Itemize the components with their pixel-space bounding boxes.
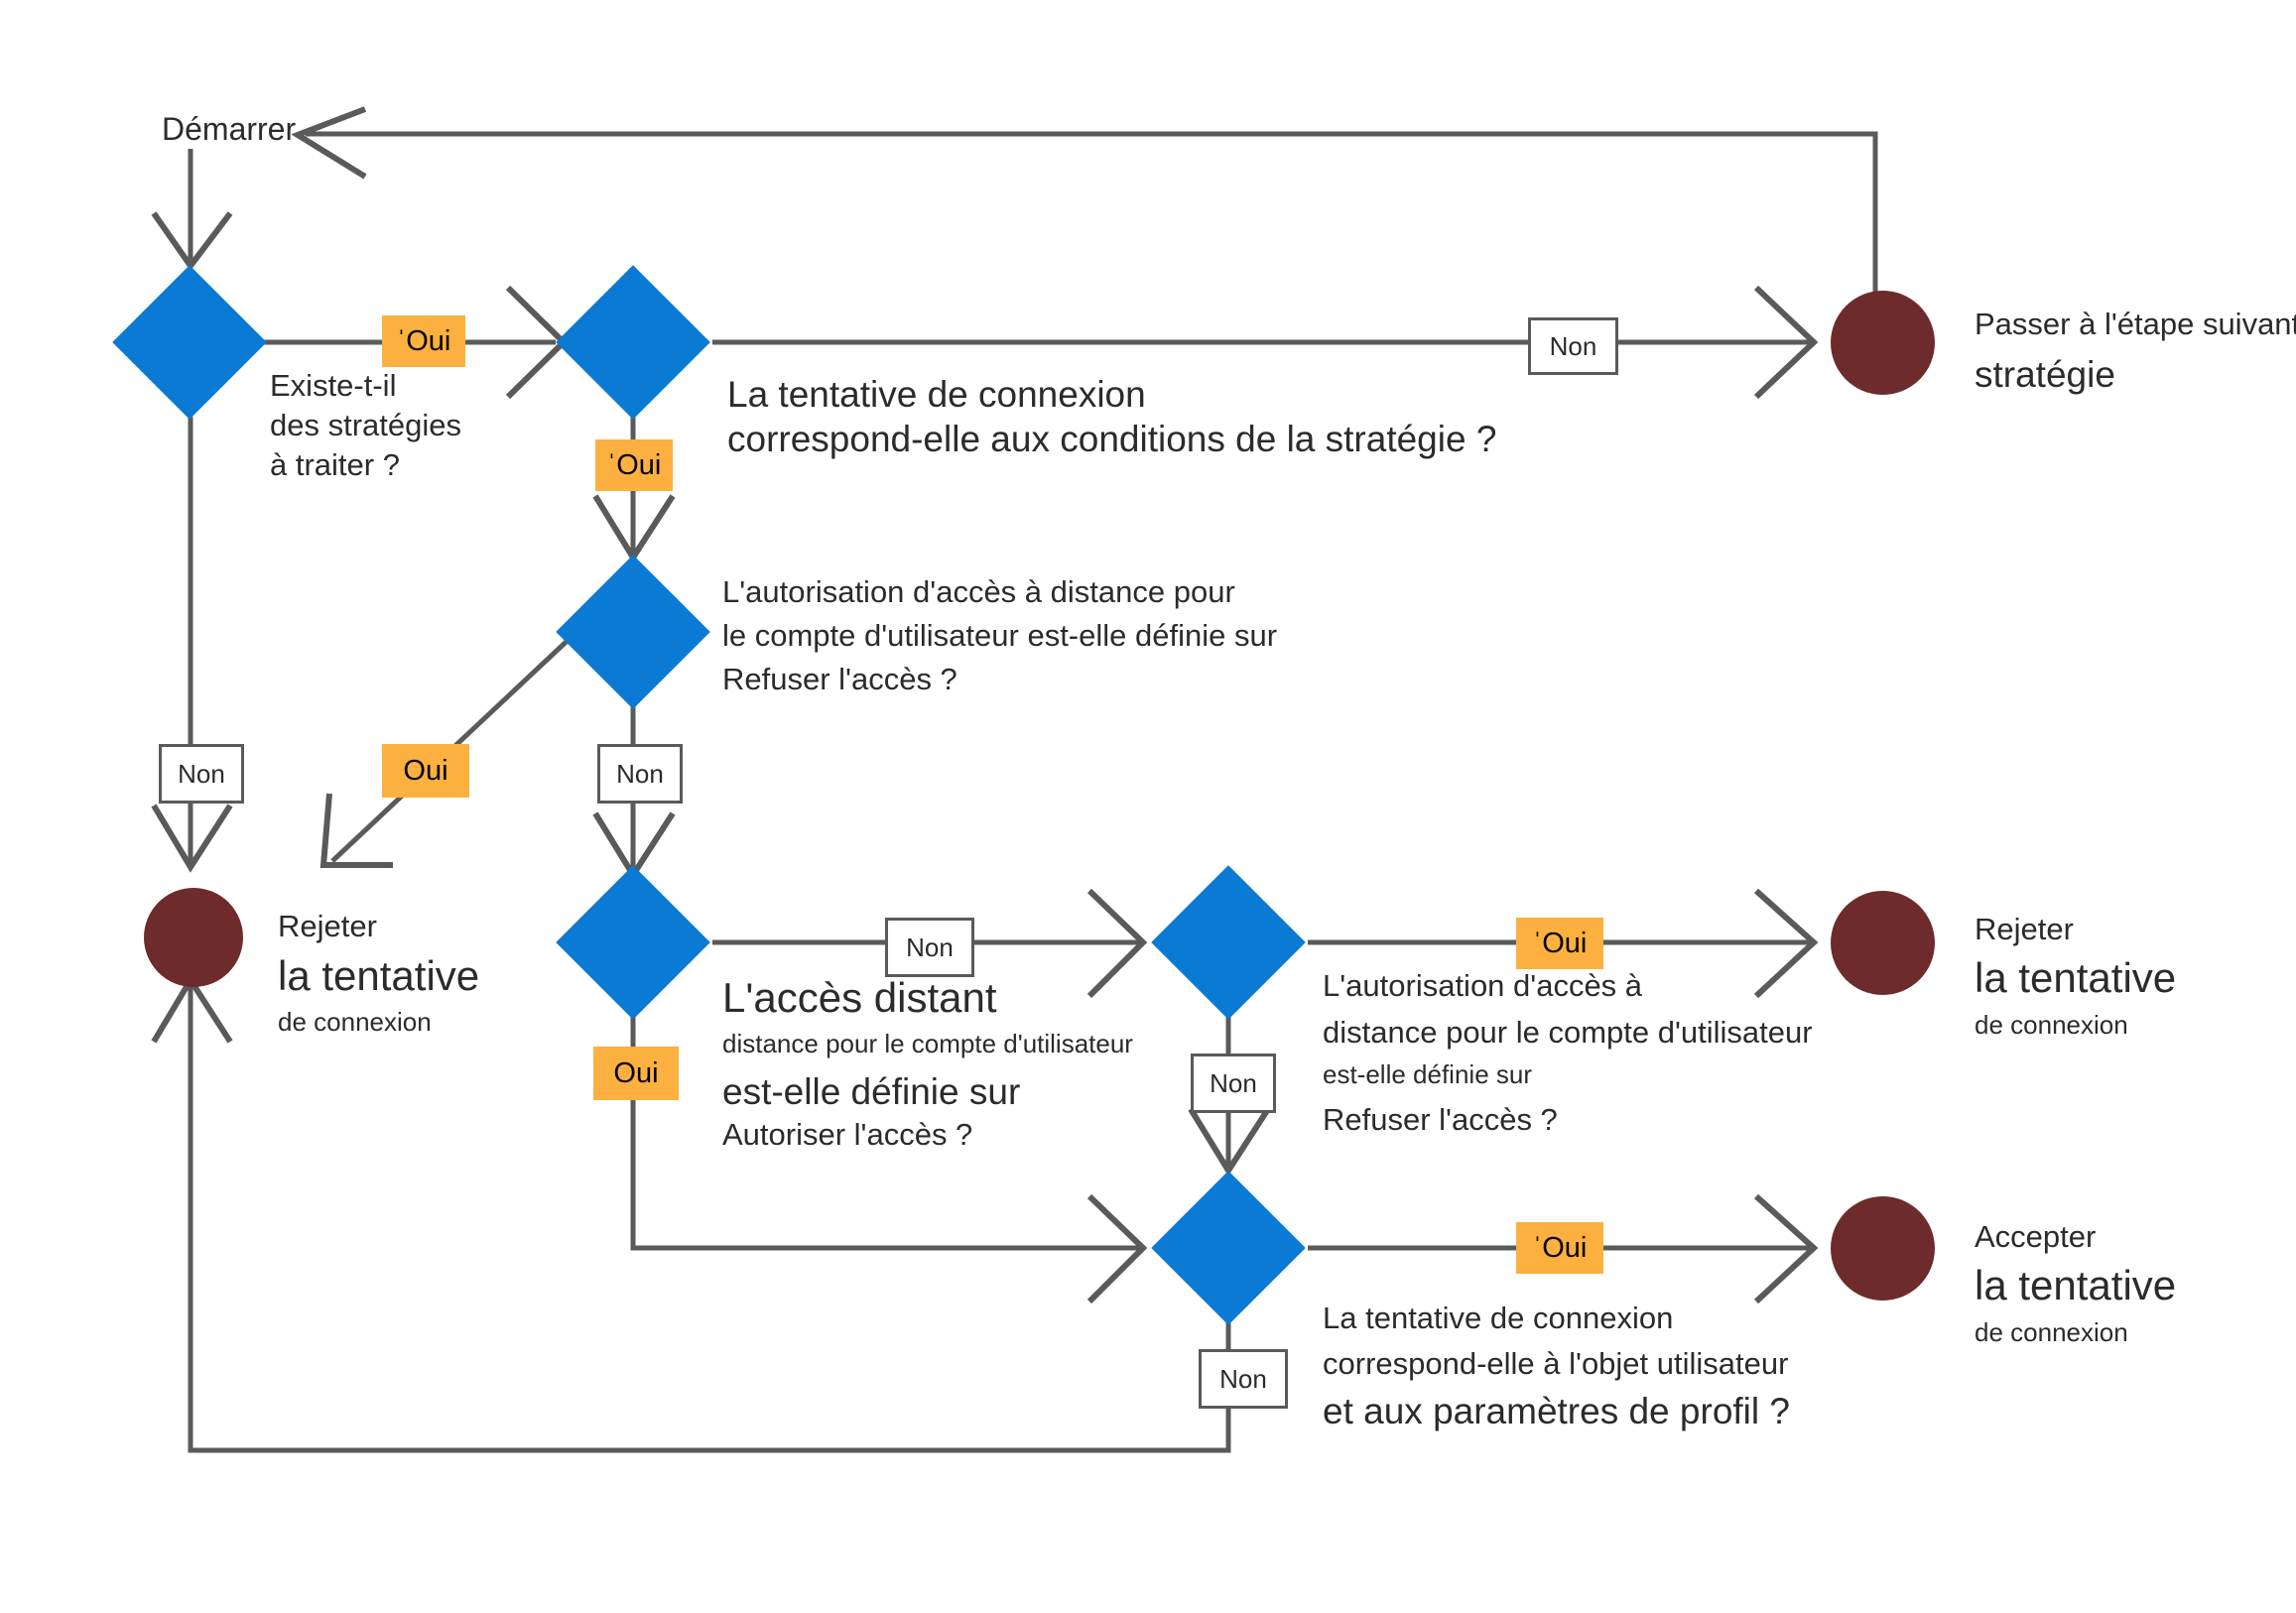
decision-label-deny-profile-l1: L'autorisation d'accès à — [1323, 967, 1642, 1005]
terminal-label-reject-right-l3: de connexion — [1975, 1010, 2128, 1042]
decision-label-allow-user-l1: L'accès distant — [722, 972, 997, 1023]
terminal-label-accept-right-l2: la tentative — [1975, 1260, 2176, 1310]
edge-label-yes-d1[interactable]: ˈOui — [382, 315, 465, 367]
edge-label-yes-d3[interactable]: Oui — [382, 744, 469, 798]
decision-label-deny-profile-l3: est-elle définie sur — [1323, 1059, 1532, 1091]
edge-label-no-d2[interactable]: Non — [1528, 317, 1618, 375]
terminal-label-next-policy-l1: Passer à l'étape suivante — [1975, 306, 2296, 343]
connector-layer — [0, 0, 2296, 1613]
decision-label-user-object-l3: et aux paramètres de profil ? — [1323, 1389, 1790, 1433]
decision-label-user-object-l2: correspond-elle à l'objet utilisateur — [1323, 1345, 1788, 1383]
edge-label-no-d1[interactable]: Non — [159, 744, 244, 804]
start-label: Démarrer — [162, 111, 296, 148]
decision-label-matches-policy-conditions-l2: correspond-elle aux conditions de la str… — [727, 417, 1496, 461]
terminal-node-reject-right[interactable] — [1831, 891, 1935, 995]
terminal-node-next-policy[interactable] — [1831, 291, 1935, 395]
terminal-label-reject-right-l1: Rejeter — [1975, 911, 2074, 948]
flowchart-canvas: Démarrer ˈOui ˈOui Non Oui Non Non Non O… — [0, 0, 2296, 1613]
terminal-label-reject-right-l2: la tentative — [1975, 952, 2176, 1003]
edge-label-yes-d2[interactable]: ˈOui — [595, 439, 673, 491]
decision-label-deny-user-l3: Refuser l'accès ? — [722, 661, 957, 698]
edge-label-yes-d4[interactable]: Oui — [593, 1047, 679, 1100]
terminal-label-reject-left-l1: Rejeter — [278, 908, 377, 945]
decision-label-allow-user-l2: distance pour le compte d'utilisateur — [722, 1029, 1133, 1060]
decision-label-user-object-l1: La tentative de connexion — [1323, 1300, 1673, 1337]
terminal-label-next-policy-l2: stratégie — [1975, 352, 2115, 397]
edge-label-no-d3[interactable]: Non — [597, 744, 683, 804]
terminal-label-accept-right-l1: Accepter — [1975, 1218, 2096, 1256]
edge-label-no-d6[interactable]: Non — [1199, 1349, 1288, 1409]
decision-label-strategies-to-process-l2: des stratégies — [270, 407, 461, 444]
decision-label-strategies-to-process-l1: Existe-t-il — [270, 367, 396, 405]
terminal-label-reject-left-l3: de connexion — [278, 1007, 432, 1039]
terminal-node-reject-left[interactable] — [144, 888, 243, 987]
edge-label-yes-d6[interactable]: ˈOui — [1516, 1222, 1603, 1274]
edge-label-no-d5[interactable]: Non — [1191, 1054, 1276, 1113]
terminal-label-reject-left-l2: la tentative — [278, 950, 479, 1001]
terminal-label-accept-right-l3: de connexion — [1975, 1317, 2128, 1349]
edge-label-yes-d5[interactable]: ˈOui — [1516, 918, 1603, 969]
decision-label-matches-policy-conditions-l1: La tentative de connexion — [727, 372, 1146, 417]
decision-label-deny-user-l1: L'autorisation d'accès à distance pour — [722, 573, 1235, 611]
decision-label-allow-user-l4: Autoriser l'accès ? — [722, 1116, 972, 1154]
terminal-node-accept-right[interactable] — [1831, 1196, 1935, 1301]
decision-label-deny-profile-l2: distance pour le compte d'utilisateur — [1323, 1014, 1813, 1052]
decision-label-allow-user-l3: est-elle définie sur — [722, 1069, 1020, 1114]
decision-label-deny-profile-l4: Refuser l'accès ? — [1323, 1101, 1558, 1139]
decision-label-strategies-to-process-l3: à traiter ? — [270, 446, 400, 484]
edge-label-no-d4[interactable]: Non — [885, 918, 974, 977]
decision-label-deny-user-l2: le compte d'utilisateur est-elle définie… — [722, 617, 1277, 655]
